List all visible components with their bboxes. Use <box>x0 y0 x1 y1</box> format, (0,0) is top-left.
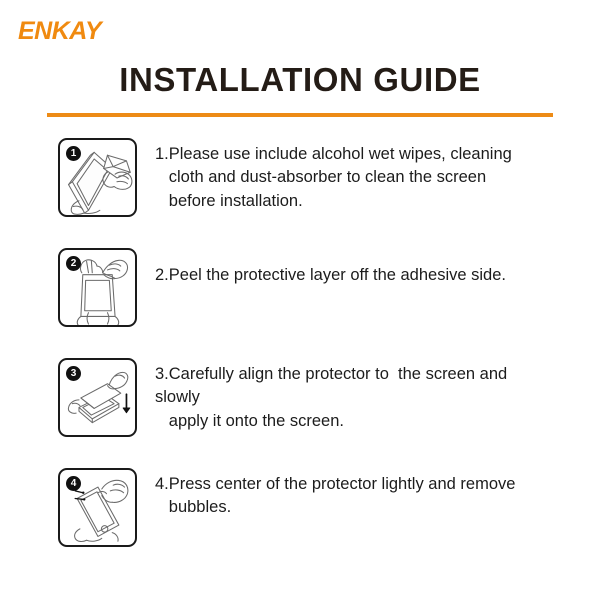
step-2-badge: 2 <box>66 256 81 271</box>
step-2-text: 2.Peel the protective layer off the adhe… <box>137 248 600 287</box>
step-3-text: 3.Carefully align the protector to the s… <box>137 358 600 433</box>
list-item: 1 <box>0 138 600 217</box>
step-2-figure: 2 <box>58 248 137 327</box>
step-3-figure: 3 <box>58 358 137 437</box>
steps-list: 1 <box>0 138 600 547</box>
list-item: 3 <box>0 358 600 437</box>
list-item: 2 <box>0 248 600 327</box>
step-3-badge: 3 <box>66 366 81 381</box>
step-4-badge: 4 <box>66 476 81 491</box>
page-title: INSTALLATION GUIDE <box>0 62 600 98</box>
step-1-figure: 1 <box>58 138 137 217</box>
step-4-figure: 4 <box>58 468 137 547</box>
list-item: 4 <box>0 468 600 547</box>
enkay-logo: ENKAY <box>18 19 101 44</box>
installation-guide-page: ENKAY INSTALLATION GUIDE 1 <box>0 0 600 600</box>
header-divider <box>47 113 553 117</box>
step-1-text: 1.Please use include alcohol wet wipes, … <box>137 138 600 213</box>
step-4-text: 4.Press center of the protector lightly … <box>137 468 600 520</box>
step-1-badge: 1 <box>66 146 81 161</box>
